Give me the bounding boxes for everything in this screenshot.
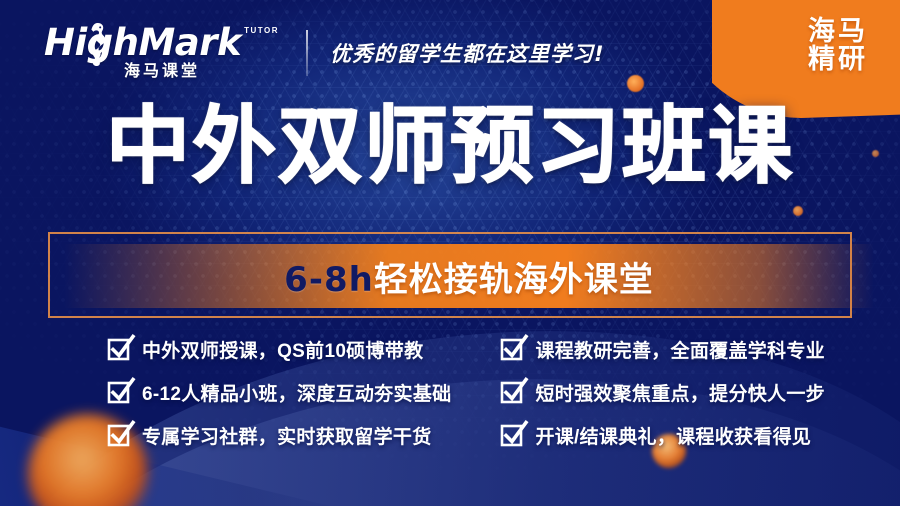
feature-text: 开课/结课典礼，课程收获看得见 <box>535 422 811 449</box>
feature-text: 短时强效聚焦重点，提分快人一步 <box>535 379 825 406</box>
badge-line-2: 精研 <box>808 46 868 74</box>
main-title: 中外双师预习班课 <box>0 104 900 188</box>
subtitle-rest: 轻松接轨海外课堂 <box>374 260 654 300</box>
orange-dot-a <box>627 75 644 92</box>
feature-item: 6-12人精品小班，深度互动夯实基础 <box>34 379 451 406</box>
feature-item: 中外双师授课，QS前10硕博带教 <box>34 336 451 363</box>
subtitle-frame: 6-8h轻松接轨海外课堂 <box>48 232 852 318</box>
checkbox-checked-icon <box>501 381 524 404</box>
orange-dot-b <box>793 206 803 216</box>
brand-header: HighMark TUTOR 海马课堂 优秀的留学生都在这里学习! <box>44 24 605 81</box>
logo-tutor-superscript: TUTOR <box>243 25 280 36</box>
promo-banner: HighMark TUTOR 海马课堂 优秀的留学生都在这里学习! 海马 精研 … <box>0 0 900 506</box>
feature-list: 中外双师授课，QS前10硕博带教 课程教研完善，全面覆盖学科专业 6-12人精品… <box>0 336 900 449</box>
highmark-logo: HighMark TUTOR 海马课堂 <box>44 24 280 81</box>
badge-line-1: 海马 <box>808 18 868 46</box>
seahorse-icon <box>87 21 109 67</box>
feature-text: 6-12人精品小班，深度互动夯实基础 <box>142 379 451 406</box>
subtitle-strip: 6-8h轻松接轨海外课堂 <box>64 244 874 308</box>
feature-text: 专属学习社群，实时获取留学干货 <box>142 422 432 449</box>
subtitle-highlight: 6-8h <box>284 260 374 300</box>
feature-item: 专属学习社群，实时获取留学干货 <box>34 422 451 449</box>
tagline-text: 优秀的留学生都在这里学习! <box>330 38 605 68</box>
feature-text: 课程教研完善，全面覆盖学科专业 <box>535 336 825 363</box>
feature-item: 开课/结课典礼，课程收获看得见 <box>451 422 866 449</box>
header-divider <box>306 30 308 76</box>
feature-text: 中外双师授课，QS前10硕博带教 <box>142 336 423 363</box>
feature-item: 短时强效聚焦重点，提分快人一步 <box>451 379 866 406</box>
checkbox-checked-icon <box>501 424 524 447</box>
checkbox-checked-icon <box>108 424 131 447</box>
checkbox-checked-icon <box>108 338 131 361</box>
feature-item: 课程教研完善，全面覆盖学科专业 <box>451 336 866 363</box>
checkbox-checked-icon <box>501 338 524 361</box>
checkbox-checked-icon <box>108 381 131 404</box>
logo-wordmark: HighMark <box>44 24 241 61</box>
corner-badge: 海马 精研 <box>808 18 868 73</box>
